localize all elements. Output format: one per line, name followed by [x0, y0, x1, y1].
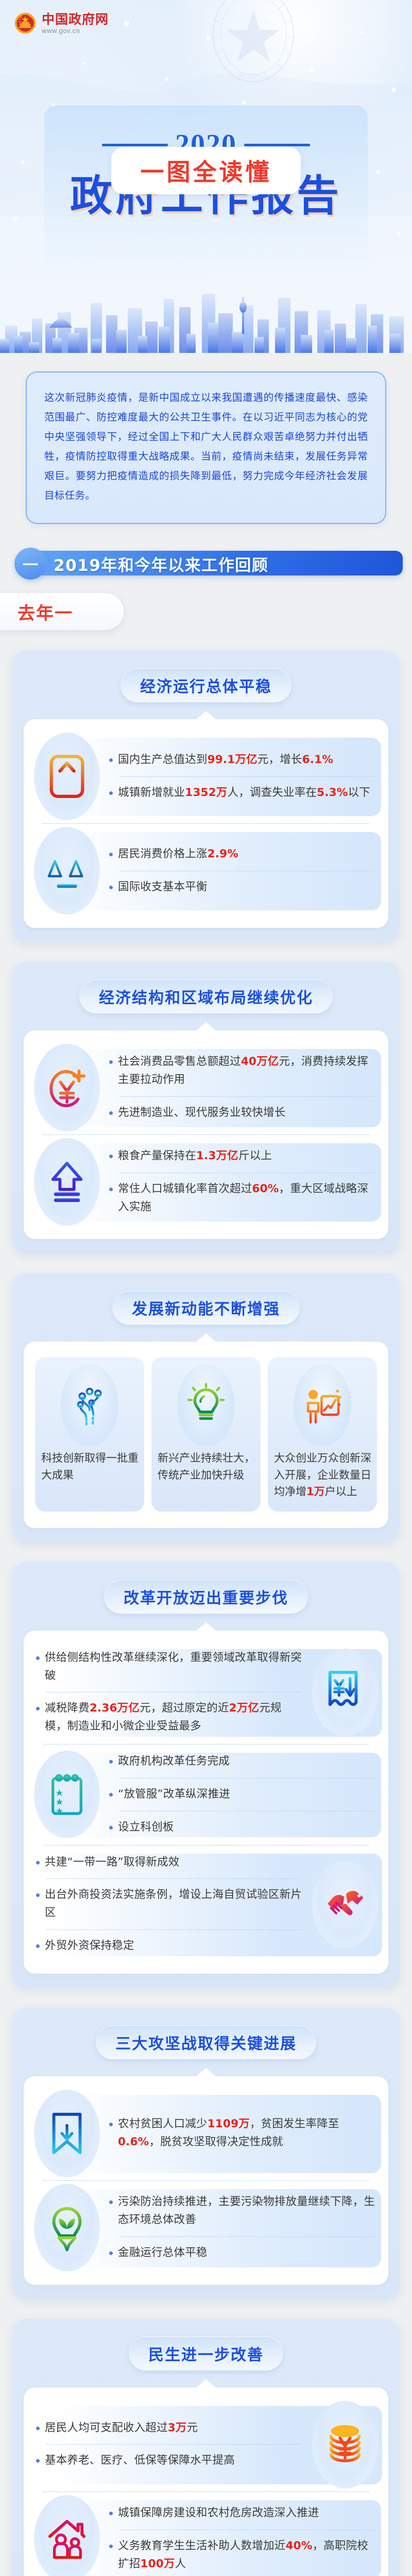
- balance-scale-icon: [34, 827, 100, 914]
- rule-left: [102, 144, 168, 146]
- site-logo-url: www.gov.cn: [42, 27, 109, 34]
- hero-banner: 中国政府网 www.gov.cn 2020 政府工作报告 一图全读懂: [0, 0, 412, 278]
- feature-column: 科技创新取得一批重大成果: [35, 1357, 144, 1512]
- card-body: 科技创新取得一批重大成果 新兴产业持续壮大，传统产业加快升级 大众创业万众创新深…: [24, 1342, 388, 1528]
- stat-bullet: 农村贫困人口减少1109万，贫困发生率降至0.6%，脱贫攻坚取得决定性成就: [107, 2110, 378, 2157]
- bullet-text: 减税降费2.36万亿元，超过原定的近2万亿元规模，制造业和小微企业受益最多: [45, 1700, 303, 1736]
- stat-bullet: “放管服”改革纵深推进: [107, 1781, 378, 1809]
- rule-right: [244, 144, 310, 146]
- bullet-dot-icon: [109, 2512, 113, 2515]
- lightbulb-icon: [177, 1364, 235, 1447]
- eco-leaf-bulb-icon: [34, 2184, 100, 2272]
- bullet-list: 城镇保障房建设和农村危房改造深入推进义务教育学生生活补助人数增加近40%，高职院…: [107, 2499, 378, 2576]
- bullet-dot-icon: [36, 1656, 40, 1660]
- bullet-divider: [46, 1929, 301, 1930]
- stat-bullet: 居民消费价格上涨2.9%: [107, 840, 378, 869]
- bullet-dot-icon: [109, 2123, 113, 2126]
- bullet-list: 居民人均可支配收入超过3万元基本养老、医疗、低保等保障水平提高: [34, 2414, 305, 2476]
- stat-bullet: 义务教育学生生活补助人数增加近40%，高职院校扩招100万人: [107, 2532, 378, 2576]
- house-family-icon: [34, 2495, 100, 2576]
- bullet-text: 农村贫困人口减少1109万，贫困发生率降至0.6%，脱贫攻坚取得决定性成就: [118, 2115, 376, 2151]
- bullet-list: 居民消费价格上涨2.9%国际收支基本平衡: [107, 840, 378, 902]
- card-body: 供给侧结构性改革继续深化，重要领域改革取得新突破减税降费2.36万亿元，超过原定…: [24, 1631, 388, 1974]
- bullet-dot-icon: [109, 853, 113, 856]
- stat-row: 政府机构改革任务完成“放管服”改革纵深推进设立科创板: [34, 1748, 378, 1841]
- card-notch: [196, 2379, 216, 2388]
- bullet-dot-icon: [109, 1793, 113, 1797]
- stat-bullet: 污染防治持续推进，主要污染物排放量继续下降，生态环境总体改善: [107, 2188, 378, 2234]
- card-title: 经济运行总体平稳: [140, 674, 272, 697]
- card-notch: [196, 2068, 216, 2077]
- bullet-dot-icon: [36, 1707, 40, 1710]
- bullet-divider: [119, 2236, 374, 2237]
- coin-stack-icon: [312, 2401, 378, 2488]
- card-body: 农村贫困人口减少1109万，贫困发生率降至0.6%，脱贫攻坚取得决定性成就 污染…: [24, 2076, 388, 2285]
- bullet-text: 国内生产总值达到99.1万亿元，增长6.1%: [118, 751, 333, 769]
- year-tag: 去年一: [0, 593, 124, 630]
- stat-row: 国内生产总值达到99.1万亿元，增长6.1%城镇新增就业1352万人，调查失业率…: [34, 733, 378, 820]
- bullet-text: 政府机构改革任务完成: [118, 1753, 230, 1771]
- card-title-pill: 三大攻坚战取得关键进展: [96, 2025, 316, 2059]
- bullet-text: 出台外商投资法实施条例，增设上海自贸试验区新片区: [45, 1886, 303, 1922]
- bullet-text: 基本养老、医疗、低保等保障水平提高: [45, 2452, 235, 2470]
- bullet-text: 城镇新增就业1352万人，调查失业率在5.3%以下: [118, 784, 370, 802]
- stat-card: 发展新动能不断增强 科技创新取得一批重大成果 新兴产业持续壮大，传统产业加快升级: [12, 1273, 400, 1541]
- bullet-divider: [46, 2444, 301, 2445]
- site-logo-name: 中国政府网: [42, 13, 109, 26]
- section-title: 2019年和今年以来工作回顾: [54, 551, 268, 576]
- site-logo[interactable]: 中国政府网 www.gov.cn: [13, 11, 109, 35]
- stat-bullet: 国内生产总值达到99.1万亿元，增长6.1%: [107, 746, 378, 774]
- card-notch: [196, 711, 216, 720]
- national-emblem-icon: [13, 11, 37, 35]
- stat-bullet: 城镇新增就业1352万人，调查失业率在5.3%以下: [107, 779, 378, 807]
- three-column-group: 科技创新取得一批重大成果 新兴产业持续壮大，传统产业加快升级 大众创业万众创新深…: [34, 1355, 378, 1515]
- stat-card: 三大攻坚战取得关键进展 农村贫困人口减少1109万，贫困发生率降至0.6%，脱贫…: [12, 2008, 400, 2298]
- stat-bullet: 常住人口城镇化率首次超过60%，重大区域战略深入实施: [107, 1175, 378, 1222]
- bullet-text: 供给侧结构性改革继续深化，重要领域改革取得新突破: [45, 1649, 303, 1685]
- card-title: 民生进一步改善: [148, 2342, 264, 2365]
- stat-bullet: 国际收支基本平衡: [107, 873, 378, 902]
- section-number: 一: [23, 552, 38, 575]
- bullet-dot-icon: [109, 2200, 113, 2204]
- stat-bullet: 基本养老、医疗、低保等保障水平提高: [34, 2447, 305, 2475]
- bullet-divider: [119, 871, 374, 871]
- bullet-dot-icon: [109, 1760, 113, 1764]
- stat-bullet: 先进制造业、现代服务业较快增长: [107, 1099, 378, 1127]
- intro-card: 这次新冠肺炎疫情，是新中国成立以来我国遭遇的传播速度最快、感染范围最广、防控难度…: [26, 371, 386, 524]
- stat-row: 居民消费价格上涨2.9%国际收支基本平衡: [34, 827, 378, 914]
- bullet-text: 居民消费价格上涨2.9%: [118, 845, 238, 863]
- bullet-text: 外贸外资保持稳定: [45, 1937, 134, 1955]
- stat-row: 居民人均可支配收入超过3万元基本养老、医疗、低保等保障水平提高: [34, 2401, 378, 2488]
- yuan-plus-icon: [34, 1044, 100, 1131]
- bookmark-down-icon: [34, 2090, 100, 2177]
- bullet-text: 共建“一带一路”取得新成效: [45, 1854, 179, 1872]
- stat-bullet: 居民人均可支配收入超过3万元: [34, 2414, 305, 2443]
- bullet-text: 金融运行总体平稳: [118, 2244, 208, 2262]
- bullet-dot-icon: [109, 886, 113, 889]
- cards-container: 经济运行总体平稳 国内生产总值达到99.1万亿元，增长6.1%城镇新增就业135…: [0, 651, 412, 2576]
- bullet-divider: [119, 1096, 374, 1097]
- card-body: 国内生产总值达到99.1万亿元，增长6.1%城镇新增就业1352万人，调查失业率…: [24, 719, 388, 928]
- bullet-text: 设立科创板: [118, 1819, 174, 1837]
- feature-column: 大众创业万众创新深入开展，企业数量日均净增1万户以上: [268, 1357, 377, 1512]
- bullet-dot-icon: [36, 1944, 40, 1948]
- bullet-text: 国际收支基本平衡: [118, 878, 208, 896]
- card-title: 发展新动能不断增强: [132, 1296, 280, 1319]
- arrow-up-bars-icon: [34, 1138, 100, 1226]
- bullet-divider: [119, 1811, 374, 1811]
- stat-card: 民生进一步改善 居民人均可支配收入超过3万元基本养老、医疗、低保等保障水平提高 …: [12, 2319, 400, 2576]
- section-header: 一 2019年和今年以来工作回顾: [12, 548, 412, 580]
- feature-column: 新兴产业持续壮大，传统产业加快升级: [151, 1357, 261, 1512]
- stat-bullet: 供给侧结构性改革继续深化，重要领域改革取得新突破: [34, 1644, 305, 1690]
- row-divider: [43, 2492, 369, 2492]
- skyline-icon: [0, 278, 412, 353]
- circuit-tree-icon: [61, 1364, 118, 1447]
- bullet-dot-icon: [109, 1111, 113, 1115]
- intro-section: 这次新冠肺炎疫情，是新中国成立以来我国遭遇的传播速度最快、感染范围最广、防控难度…: [0, 353, 412, 524]
- section-number-badge: 一: [14, 548, 46, 580]
- bullet-dot-icon: [109, 758, 113, 762]
- stat-bullet: 粮食产量保持在1.3万亿斤以上: [107, 1142, 378, 1171]
- row-divider: [43, 1845, 369, 1845]
- bullet-text: 污染防治持续推进，主要污染物排放量继续下降，生态环境总体改善: [118, 2193, 376, 2229]
- stat-card: 改革开放迈出重要步伐 供给侧结构性改革继续深化，重要领域改革取得新突破减税降费2…: [12, 1562, 400, 1987]
- handshake-icon: [312, 1860, 378, 1948]
- bullet-divider: [46, 1878, 301, 1879]
- bullet-dot-icon: [36, 1893, 40, 1897]
- stat-bullet: 出台外商投资法实施条例，增设上海自贸试验区新片区: [34, 1881, 305, 1927]
- bullet-divider: [119, 1173, 374, 1173]
- bullet-list: 社会消费品零售总额超过40万亿元，消费持续发挥主要拉动作用先进制造业、现代服务业…: [107, 1048, 378, 1127]
- feature-column-text: 大众创业万众创新深入开展，企业数量日均净增1万户以上: [273, 1450, 372, 1500]
- stat-bullet: 社会消费品零售总额超过40万亿元，消费持续发挥主要拉动作用: [107, 1048, 378, 1094]
- bullet-text: 社会消费品零售总额超过40万亿元，消费持续发挥主要拉动作用: [118, 1053, 376, 1089]
- bullet-text: 居民人均可支配收入超过3万元: [45, 2419, 198, 2437]
- checklist-icon: [34, 1751, 100, 1838]
- city-skyline: [0, 278, 412, 353]
- bullet-list: 污染防治持续推进，主要污染物排放量继续下降，生态环境总体改善金融运行总体平稳: [107, 2188, 378, 2267]
- bullet-text: 先进制造业、现代服务业较快增长: [118, 1104, 286, 1122]
- stat-bullet: 设立科创板: [107, 1814, 378, 1842]
- row-divider: [43, 1134, 369, 1135]
- infographic-page: 中国政府网 www.gov.cn 2020 政府工作报告 一图全读懂: [0, 0, 412, 2576]
- year-tag-label: 去年一: [18, 599, 73, 624]
- card-title-pill: 发展新动能不断增强: [112, 1291, 300, 1325]
- stat-row: 供给侧结构性改革继续深化，重要领域改革取得新突破减税降费2.36万亿元，超过原定…: [34, 1644, 378, 1741]
- bullet-divider: [119, 776, 374, 777]
- presenter-chart-icon: [294, 1364, 351, 1447]
- card-body: 居民人均可支配收入超过3万元基本养老、医疗、低保等保障水平提高 城镇保障房建设和…: [24, 2387, 388, 2576]
- bullet-list: 政府机构改革任务完成“放管服”改革纵深推进设立科创板: [107, 1748, 378, 1841]
- stat-row: 共建“一带一路”取得新成效出台外商投资法实施条例，增设上海自贸试验区新片区外贸外…: [34, 1849, 378, 1960]
- bullet-text: 城镇保障房建设和农村危房改造深入推进: [118, 2504, 319, 2522]
- stat-card: 经济运行总体平稳 国内生产总值达到99.1万亿元，增长6.1%城镇新增就业135…: [12, 651, 400, 941]
- bullet-list: 粮食产量保持在1.3万亿斤以上常住人口城镇化率首次超过60%，重大区域战略深入实…: [107, 1142, 378, 1221]
- bullet-text: “放管服”改革纵深推进: [118, 1786, 230, 1804]
- stat-bullet: 政府机构改革任务完成: [107, 1748, 378, 1776]
- stat-card: 经济结构和区域布局继续优化 社会消费品零售总额超过40万亿元，消费持续发挥主要拉…: [12, 962, 400, 1252]
- intro-paragraph: 这次新冠肺炎疫情，是新中国成立以来我国遭遇的传播速度最快、感染范围最广、防控难度…: [44, 388, 368, 505]
- stat-bullet: 共建“一带一路”取得新成效: [34, 1849, 305, 1877]
- row-divider: [43, 2180, 369, 2181]
- card-body: 社会消费品零售总额超过40万亿元，消费持续发挥主要拉动作用先进制造业、现代服务业…: [24, 1030, 388, 1239]
- feature-column-text: 新兴产业持续壮大，传统产业加快升级: [157, 1450, 255, 1483]
- card-title-pill: 经济运行总体平稳: [121, 668, 291, 702]
- bullet-list: 农村贫困人口减少1109万，贫困发生率降至0.6%，脱贫攻坚取得决定性成就: [107, 2110, 378, 2157]
- row-divider: [43, 1744, 369, 1744]
- bullet-text: 义务教育学生生活补助人数增加近40%，高职院校扩招100万人: [118, 2537, 376, 2573]
- bullet-divider: [46, 1692, 301, 1692]
- bullet-dot-icon: [109, 1826, 113, 1829]
- bullet-divider: [119, 2530, 374, 2530]
- card-title: 三大攻坚战取得关键进展: [115, 2031, 297, 2054]
- stat-row: 粮食产量保持在1.3万亿斤以上常住人口城镇化率首次超过60%，重大区域战略深入实…: [34, 1138, 378, 1226]
- card-title-pill: 经济结构和区域布局继续优化: [79, 979, 333, 1013]
- bullet-dot-icon: [109, 1155, 113, 1158]
- stat-bullet: 减税降费2.36万亿元，超过原定的近2万亿元规模，制造业和小微企业受益最多: [34, 1694, 305, 1741]
- arrow-up-box-icon: [34, 733, 100, 820]
- bullet-dot-icon: [109, 1060, 113, 1064]
- bullet-dot-icon: [36, 2427, 40, 2430]
- card-notch: [196, 1333, 216, 1342]
- bullet-dot-icon: [109, 791, 113, 795]
- card-title-pill: 改革开放迈出重要步伐: [104, 1580, 308, 1614]
- card-notch: [196, 1022, 216, 1031]
- bullet-text: 常住人口城镇化率首次超过60%，重大区域战略深入实施: [118, 1180, 376, 1216]
- bullet-dot-icon: [109, 2545, 113, 2548]
- feature-column-text: 科技创新取得一批重大成果: [40, 1450, 139, 1483]
- bullet-text: 粮食产量保持在1.3万亿斤以上: [118, 1147, 272, 1165]
- bullet-list: 国内生产总值达到99.1万亿元，增长6.1%城镇新增就业1352万人，调查失业率…: [107, 746, 378, 807]
- card-title: 经济结构和区域布局继续优化: [99, 985, 313, 1008]
- stat-bullet: 外贸外资保持稳定: [34, 1932, 305, 1960]
- stat-bullet: 城镇保障房建设和农村危房改造深入推进: [107, 2499, 378, 2528]
- stat-row: 污染防治持续推进，主要污染物排放量继续下降，生态环境总体改善金融运行总体平稳: [34, 2184, 378, 2272]
- bullet-dot-icon: [36, 1861, 40, 1865]
- bullet-divider: [119, 1778, 374, 1778]
- bullet-dot-icon: [109, 2251, 113, 2255]
- stat-row: 农村贫困人口减少1109万，贫困发生率降至0.6%，脱贫攻坚取得决定性成就: [34, 2090, 378, 2177]
- national-emblem-watermark-icon: [202, 0, 305, 104]
- row-divider: [43, 823, 369, 824]
- bullet-list: 共建“一带一路”取得新成效出台外商投资法实施条例，增设上海自贸试验区新片区外贸外…: [34, 1849, 305, 1960]
- yuan-down-receipt-icon: [312, 1649, 378, 1736]
- bullet-list: 供给侧结构性改革继续深化，重要领域改革取得新突破减税降费2.36万亿元，超过原定…: [34, 1644, 305, 1741]
- stat-row: 城镇保障房建设和农村危房改造深入推进义务教育学生生活补助人数增加近40%，高职院…: [34, 2495, 378, 2576]
- bullet-dot-icon: [109, 1188, 113, 1191]
- stat-row: 社会消费品零售总额超过40万亿元，消费持续发挥主要拉动作用先进制造业、现代服务业…: [34, 1044, 378, 1131]
- stat-bullet: 金融运行总体平稳: [107, 2239, 378, 2267]
- bullet-dot-icon: [36, 2459, 40, 2463]
- card-title-pill: 民生进一步改善: [129, 2336, 283, 2370]
- hero-subtitle: 一图全读懂: [141, 154, 272, 188]
- card-notch: [196, 1622, 216, 1631]
- card-title: 改革开放迈出重要步伐: [124, 1585, 288, 1608]
- hero-subtitle-pill: 一图全读懂: [111, 147, 301, 194]
